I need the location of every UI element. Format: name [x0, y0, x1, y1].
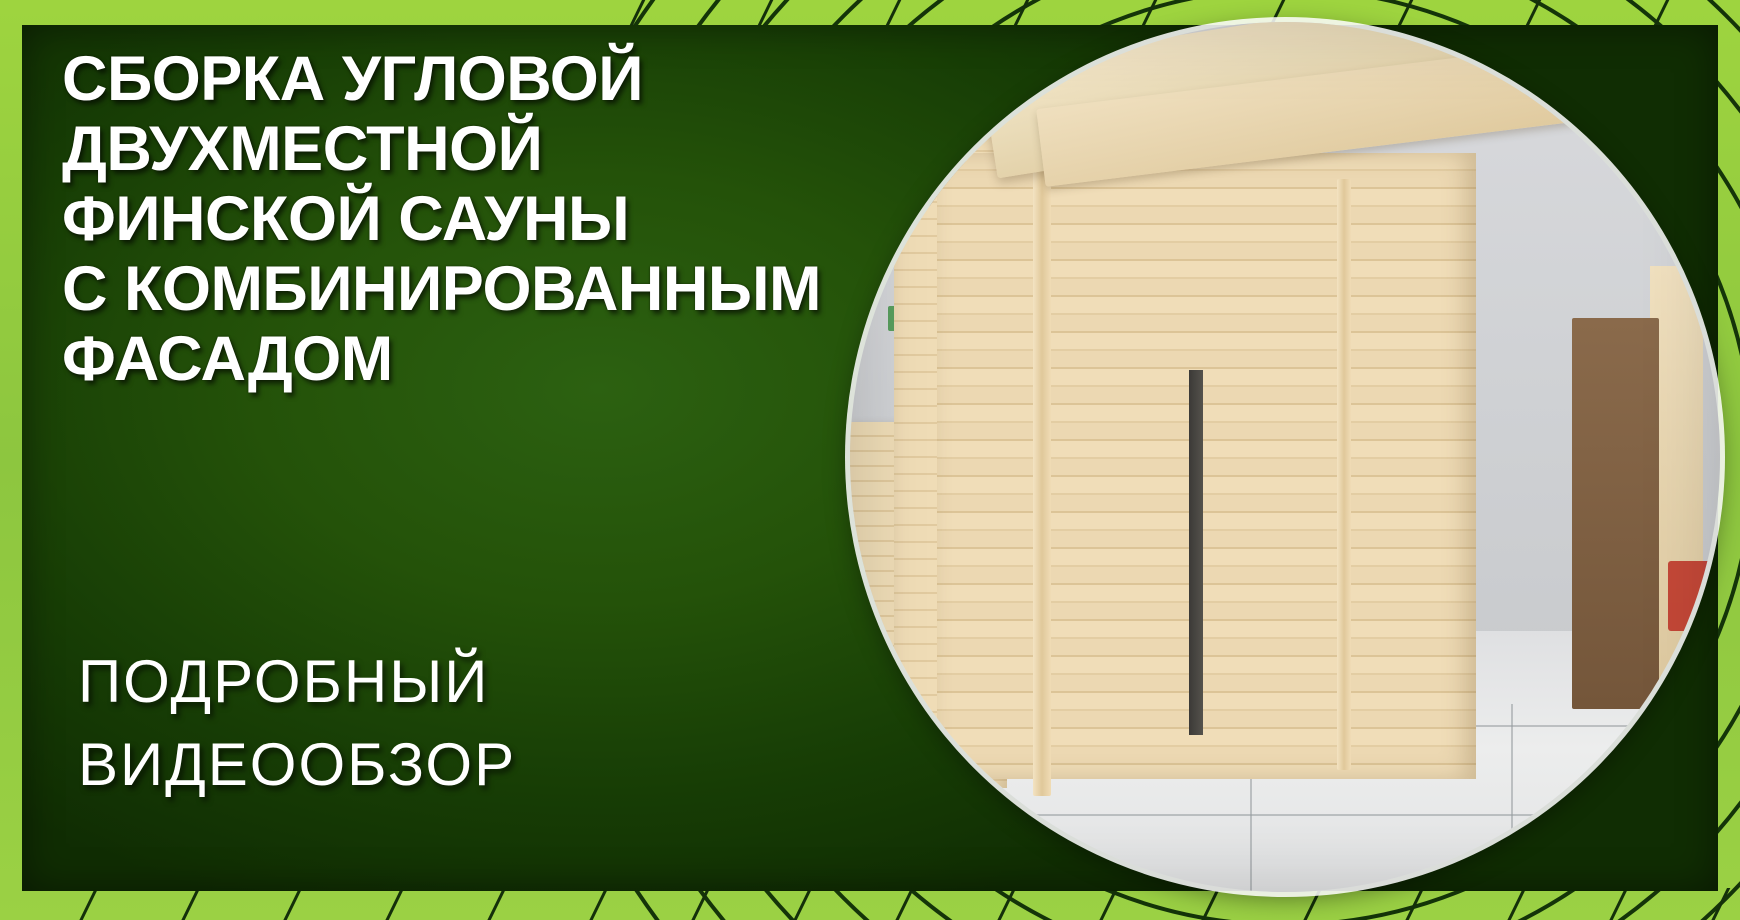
floor-grout-line: [1511, 704, 1513, 892]
bottom-stripe-12: [1091, 888, 1124, 920]
bottom-stripe-2: [71, 888, 104, 920]
headline-line-2: ДВУХМЕСТНОЙ: [62, 114, 852, 184]
subtitle-line-1: ПОДРОБНЫЙ: [78, 640, 778, 723]
top-stripe-1: [520, 0, 523, 26]
bottom-diagonal-stripes: [0, 888, 1740, 920]
bottom-stripe-11: [989, 888, 1022, 920]
sauna-corner-post: [1033, 135, 1051, 796]
red-chair: [1668, 561, 1712, 631]
headline-line-3: ФИНСКОЙ САУНЫ: [62, 184, 852, 254]
headline-line-5: ФАСАДОМ: [62, 324, 852, 394]
headline-title: СБОРКА УГЛОВОЙДВУХМЕСТНОЙФИНСКОЙ САУНЫС …: [62, 44, 852, 394]
sauna-cabin-wall: [937, 153, 1476, 779]
bottom-stripe-4: [275, 888, 308, 920]
photo-scene: [850, 22, 1720, 892]
bottom-stripe-5: [377, 888, 410, 920]
subtitle-text: ПОДРОБНЫЙВИДЕООБЗОР: [78, 640, 778, 806]
sauna-wall-gap: [1189, 370, 1203, 735]
bottom-stripe-8: [683, 888, 716, 920]
bottom-stripe-1: [0, 888, 3, 920]
thumbnail-canvas: СБОРКА УГЛОВОЙДВУХМЕСТНОЙФИНСКОЙ САУНЫС …: [0, 0, 1740, 920]
bottom-stripe-3: [173, 888, 206, 920]
bottom-stripe-10: [887, 888, 920, 920]
floor-grout-line: [850, 814, 1720, 816]
top-stripe-3: [750, 0, 779, 26]
bottom-stripe-6: [479, 888, 512, 920]
bottom-stripe-14: [1295, 888, 1328, 920]
bottom-stripe-16: [1499, 888, 1532, 920]
bottom-stripe-9: [785, 888, 818, 920]
bottom-stripe-17: [1601, 888, 1634, 920]
bottom-stripe-18: [1703, 888, 1736, 920]
sauna-corner-post: [1337, 179, 1351, 771]
bottom-stripe-7: [581, 888, 614, 920]
headline-line-1: СБОРКА УГЛОВОЙ: [62, 44, 852, 114]
headline-line-4: С КОМБИНИРОВАННЫМ: [62, 254, 852, 324]
subtitle-line-2: ВИДЕООБЗОР: [78, 723, 778, 806]
bottom-stripe-13: [1193, 888, 1226, 920]
bottom-stripe-15: [1397, 888, 1430, 920]
circular-photo: [850, 22, 1720, 892]
far-door: [1572, 318, 1659, 710]
top-stripe-2: [622, 0, 651, 26]
